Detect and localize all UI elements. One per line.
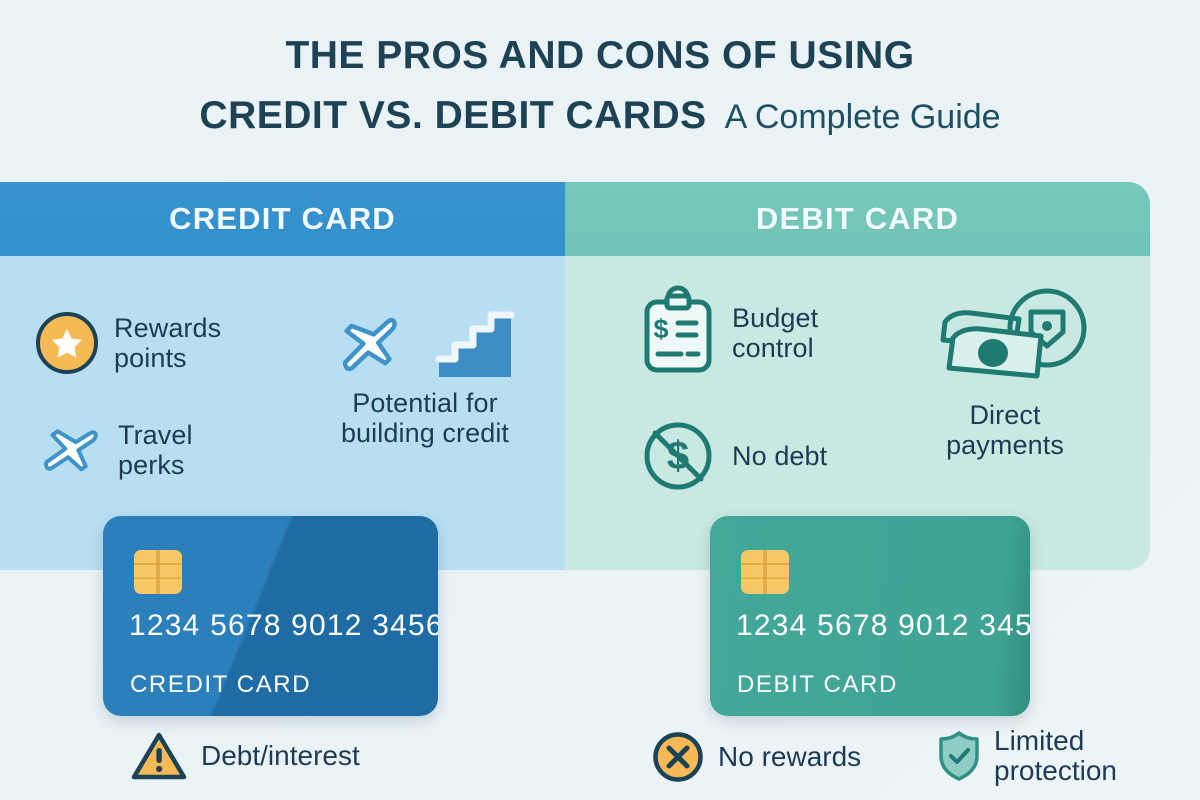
credit-column-heading: CREDIT CARD	[169, 201, 396, 237]
card-chip-icon	[741, 550, 789, 594]
credit-card-graphic: 1234 5678 9012 3456 CREDIT CARD	[103, 516, 438, 716]
pro-item-budget-control: $ Budget control	[640, 290, 818, 376]
con-item-limited-protection: Limited protection	[936, 726, 1117, 786]
con-label-debt-interest: Debt/interest	[201, 741, 360, 772]
page-title: THE PROS AND CONS OF USING CREDIT VS. DE…	[0, 36, 1200, 135]
warning-triangle-icon	[131, 730, 187, 782]
con-label-limited-protection: Limited protection	[994, 726, 1117, 786]
credit-card-label: CREDIT CARD	[130, 671, 311, 699]
pro-item-rewards-points: Rewards points	[36, 312, 221, 374]
pro-item-direct-payments: Direct payments	[880, 288, 1130, 460]
svg-text:$: $	[653, 314, 668, 344]
title-line-1: THE PROS AND CONS OF USING	[0, 36, 1200, 75]
pro-label-building-credit: Potential for building credit	[300, 388, 550, 448]
title-line-2: CREDIT VS. DEBIT CARDS	[199, 96, 706, 135]
pro-item-no-debt: $ No debt	[640, 418, 827, 494]
growth-chart-icon	[433, 305, 517, 383]
card-chip-icon	[134, 550, 182, 594]
pro-item-building-credit: Potential for building credit	[300, 300, 550, 448]
pro-label-direct-payments: Direct payments	[880, 400, 1130, 460]
banknotes-shield-icon	[923, 288, 1088, 400]
debit-card-number: 1234 5678 9012 345	[736, 609, 1030, 643]
pro-item-travel-perks: Travel perks	[38, 420, 193, 480]
debit-column-header: DEBIT CARD	[565, 182, 1150, 256]
con-item-debt-interest: Debt/interest	[131, 730, 360, 782]
no-dollar-icon: $	[640, 418, 716, 494]
pro-label-travel-perks: Travel perks	[118, 420, 193, 480]
debit-column-heading: DEBIT CARD	[756, 201, 959, 237]
airplane-icon	[38, 420, 104, 480]
clipboard-dollar-icon: $	[640, 290, 716, 376]
infographic-root: THE PROS AND CONS OF USING CREDIT VS. DE…	[0, 0, 1200, 800]
pro-label-no-debt: No debt	[732, 441, 827, 471]
credit-column-header: CREDIT CARD	[0, 182, 565, 256]
credit-card-number: 1234 5678 9012 3456	[129, 609, 438, 643]
page-subtitle: A Complete Guide	[725, 100, 1001, 134]
x-circle-icon	[652, 731, 704, 783]
airplane-icon	[333, 309, 407, 379]
shield-check-icon	[936, 730, 982, 782]
title-line-2-row: CREDIT VS. DEBIT CARDS A Complete Guide	[0, 96, 1200, 135]
con-item-no-rewards: No rewards	[652, 731, 861, 783]
con-label-no-rewards: No rewards	[718, 742, 861, 773]
debit-card-label: DEBIT CARD	[737, 671, 898, 699]
pro-label-budget-control: Budget control	[732, 303, 818, 363]
debit-card-graphic: 1234 5678 9012 345 DEBIT CARD	[710, 516, 1030, 716]
pro-label-rewards-points: Rewards points	[114, 313, 221, 373]
star-badge-icon	[36, 312, 98, 374]
